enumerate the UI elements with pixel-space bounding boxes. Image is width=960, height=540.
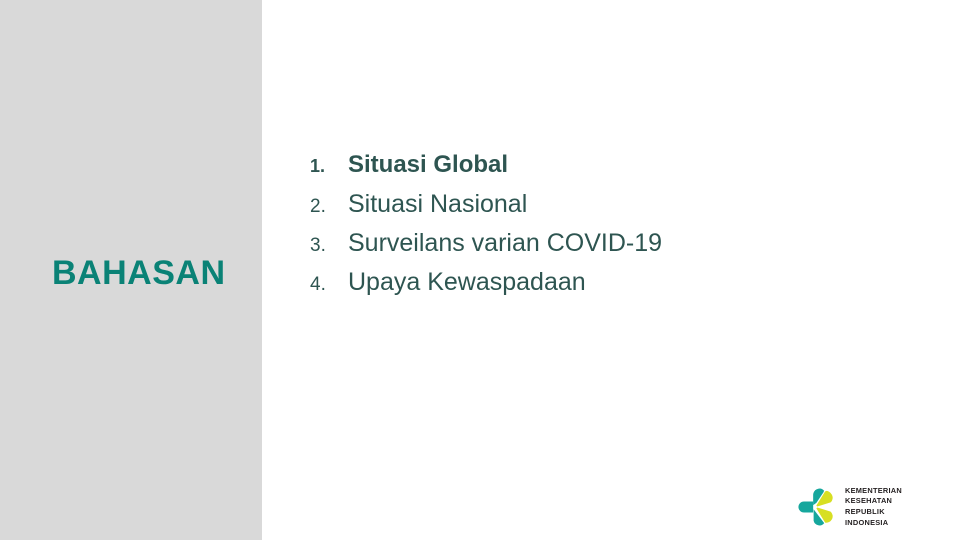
list-item-label: Situasi Nasional [348,192,527,217]
presentation-slide: BAHASAN 1. Situasi Global 2. Situasi Nas… [0,0,960,540]
list-item-label: Upaya Kewaspadaan [348,270,586,295]
kemenkes-clover-logo-icon [792,484,838,530]
logo-line-2: KESEHATAN [845,496,902,507]
logo-line-1: KEMENTERIAN [845,486,902,497]
list-item[interactable]: 2. Situasi Nasional [310,192,930,231]
organization-logo: KEMENTERIAN KESEHATAN REPUBLIK INDONESIA [792,484,902,530]
list-item-label: Situasi Global [348,153,508,177]
organization-logo-text: KEMENTERIAN KESEHATAN REPUBLIK INDONESIA [845,486,902,528]
list-item[interactable]: 3. Surveilans varian COVID-19 [310,231,930,270]
agenda-list: 1. Situasi Global 2. Situasi Nasional 3.… [310,153,930,309]
logo-line-3: REPUBLIK [845,507,902,518]
list-item-number: 4. [310,275,348,294]
page-title: BAHASAN [52,256,226,290]
list-item[interactable]: 1. Situasi Global [310,153,930,192]
list-item-number: 1. [310,157,348,175]
logo-line-4: INDONESIA [845,518,902,529]
list-item[interactable]: 4. Upaya Kewaspadaan [310,270,930,309]
list-item-label: Surveilans varian COVID-19 [348,231,662,256]
list-item-number: 2. [310,197,348,216]
list-item-number: 3. [310,236,348,255]
